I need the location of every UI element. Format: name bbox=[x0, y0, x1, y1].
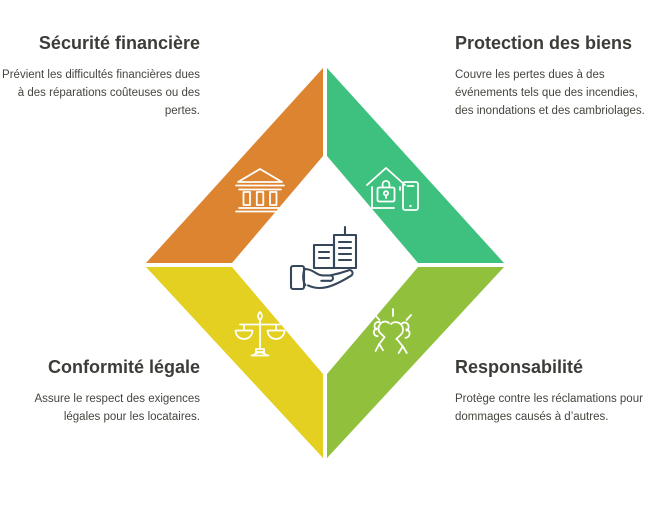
diamond-quadrant-infographic: Sécurité financière Prévient les difficu… bbox=[0, 0, 650, 505]
hand-holding-buildings-icon bbox=[286, 224, 366, 298]
quadrant-heading-securite-financiere: Sécurité financière bbox=[0, 32, 200, 55]
scales-of-justice-icon bbox=[231, 308, 289, 360]
home-lock-phone-icon bbox=[364, 163, 422, 215]
fist-impact-icon bbox=[364, 308, 422, 360]
bank-building-icon bbox=[231, 163, 289, 215]
quadrant-heading-protection-des-biens: Protection des biens bbox=[455, 32, 650, 55]
